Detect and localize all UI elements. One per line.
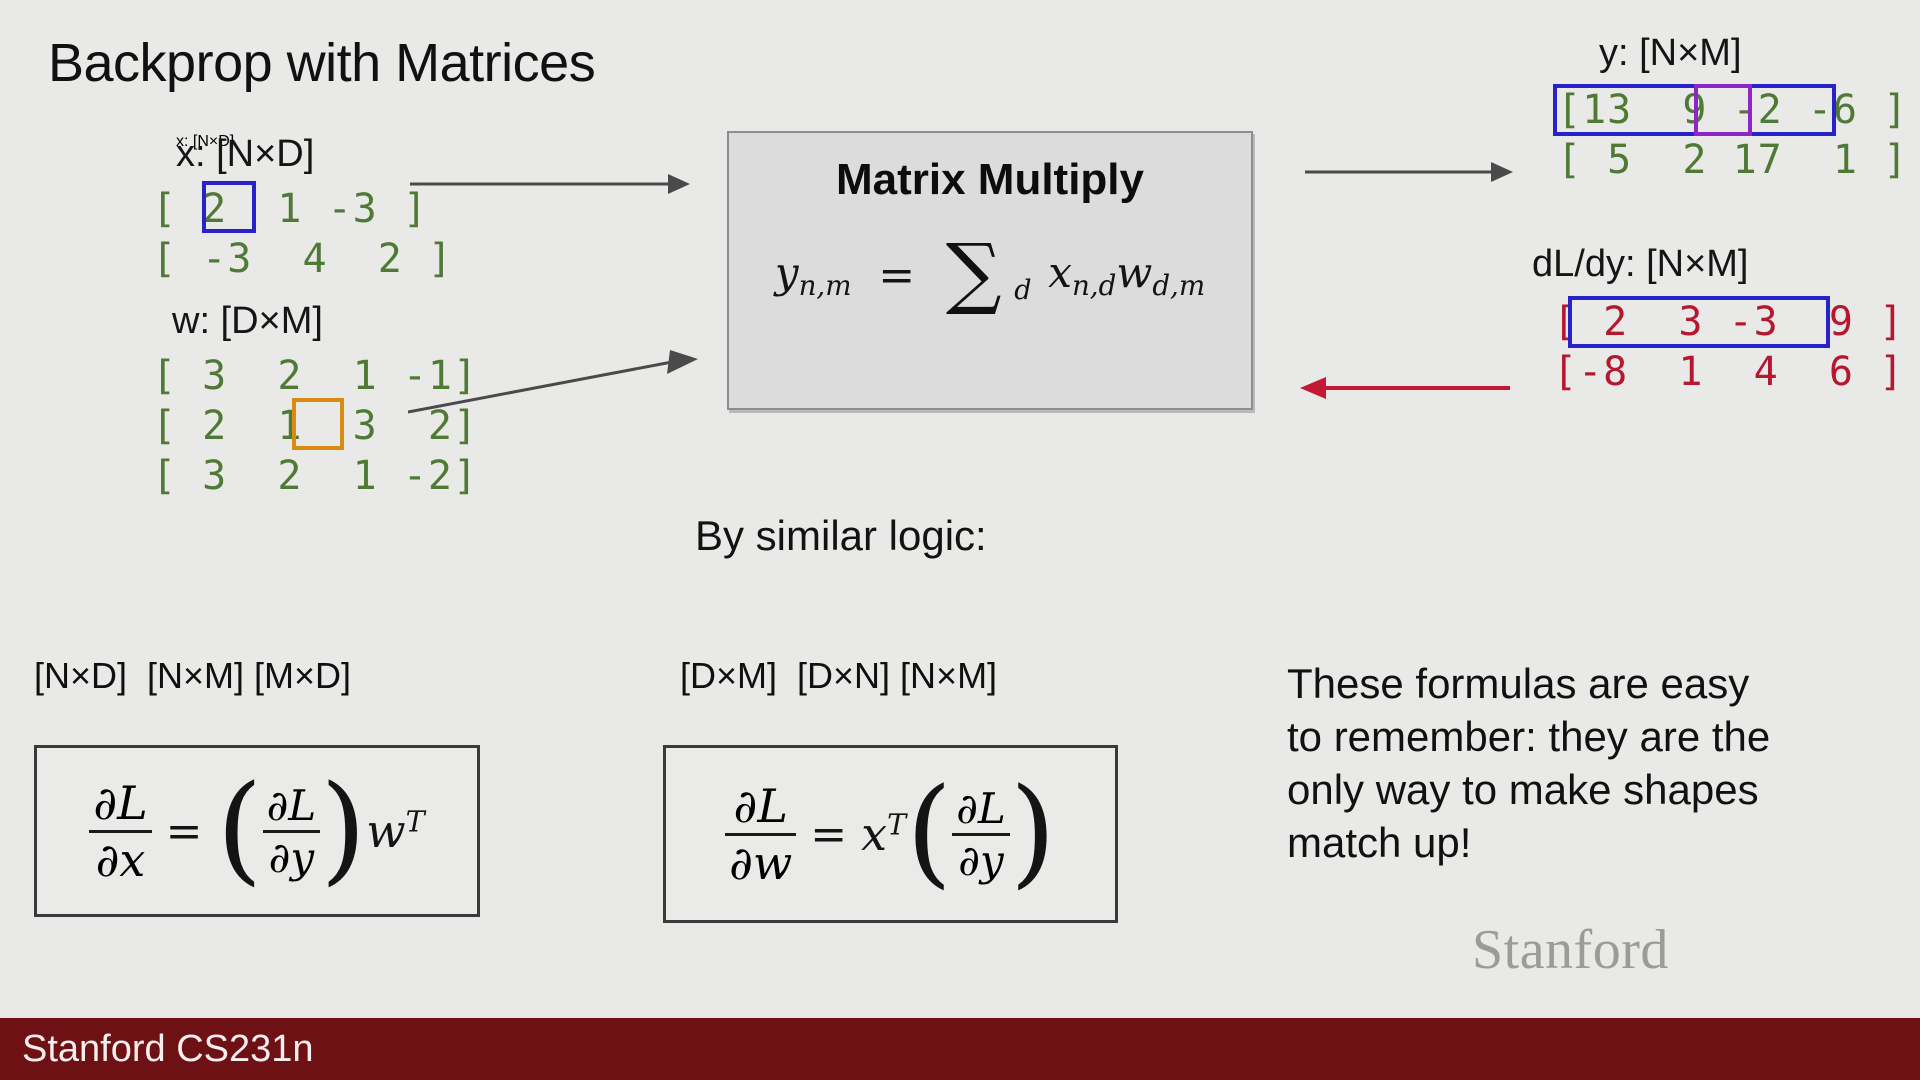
formula1-lhs-denominator: ∂x (89, 830, 151, 887)
formula1-equals: = (152, 806, 217, 857)
footer-bar: Stanford CS231n (0, 1018, 1920, 1080)
formula2-equals: = (796, 809, 861, 860)
footer-label: Stanford CS231n (22, 1028, 314, 1071)
formula2-lhs-denominator: ∂w (725, 833, 796, 890)
matrix-y-label: y: [N×M] (1599, 32, 1742, 75)
page-title: Backprop with Matrices (48, 32, 595, 94)
stanford-wordmark: Stanford (1472, 918, 1669, 982)
arrow-dLdy-to-op (1300, 375, 1510, 401)
formula-dL-dw-shapes: [D×M] [D×N] [N×M] (680, 655, 997, 697)
note-line-3: match up! (1287, 817, 1887, 870)
formula1-trailing-var-text: w (366, 804, 405, 858)
formula-dL-dw-body: ∂L ∂w = xT ( ∂L ∂y ) (666, 748, 1115, 920)
formula-dL-dx-body: ∂L ∂x = ( ∂L ∂y ) wT (37, 748, 477, 914)
by-similar-logic-text: By similar logic: (695, 512, 987, 560)
matrix-y-row-0: [13 9 -2 -6 ] (1557, 84, 1908, 136)
matrix-w-row-2: [ 3 2 1 -2] (152, 450, 478, 502)
formula-term1-sub: n,d (1072, 269, 1116, 302)
formula1-close-paren: ) (320, 792, 366, 865)
matrix-w-label: w: [D×M] (172, 300, 323, 343)
note-line-1: to remember: they are the (1287, 711, 1887, 764)
formula1-lhs-numerator: ∂L (89, 776, 151, 830)
formula-equals: = (864, 250, 929, 301)
formula1-rhs-denominator: ∂y (263, 830, 321, 882)
formula1-trailing-sup: T (406, 805, 425, 838)
formula1-trailing-var: wT (366, 804, 424, 858)
formula2-leading-var-text: x (861, 807, 887, 861)
formula1-rhs-numerator: ∂L (263, 781, 321, 830)
formula1-open-paren: ( (217, 792, 263, 865)
summation-symbol: ∑ d (946, 245, 1032, 309)
matrix-dLdy-row-1: [-8 1 4 6 ] (1553, 346, 1904, 398)
formula2-leading-var: xT (861, 807, 906, 861)
summation-index: d (1014, 275, 1031, 306)
formula2-close-paren: ) (1010, 795, 1056, 868)
formula-dL-dx-shapes: [N×D] [N×M] [M×D] (34, 655, 351, 697)
sigma-icon: ∑ (946, 228, 1002, 318)
matrix-dLdy-label: dL/dy: [N×M] (1532, 243, 1748, 286)
formula-dL-dx-card: ∂L ∂x = ( ∂L ∂y ) wT (34, 745, 480, 917)
matrix-x-row-0: [ 2 1 -3 ] (152, 183, 428, 235)
formula2-rhs-numerator: ∂L (952, 784, 1010, 833)
formula2-leading-sup: T (887, 808, 906, 841)
arrow-x-to-op (410, 172, 690, 196)
matrix-multiply-box: Matrix Multiply yn,m = ∑ d xn,dwd,m (727, 131, 1253, 410)
matrix-x-label-text: x: [N×D] (176, 133, 314, 176)
arrow-op-to-y (1305, 160, 1513, 184)
matrix-y-row-1: [ 5 2 17 1 ] (1557, 134, 1908, 186)
matrix-x-row-1: [ -3 4 2 ] (152, 233, 453, 285)
formula-term2-var: w (1116, 248, 1152, 297)
formula-term2-sub: d,m (1152, 269, 1205, 302)
note-block: These formulas are easy to remember: the… (1287, 658, 1887, 870)
matrix-multiply-title: Matrix Multiply (729, 155, 1251, 205)
note-line-2: only way to make shapes (1287, 764, 1887, 817)
formula2-lhs-numerator: ∂L (725, 779, 796, 833)
matrix-dLdy-row-0: [ 2 3 -3 9 ] (1553, 296, 1904, 348)
formula2-rhs-denominator: ∂y (952, 833, 1010, 885)
formula-dL-dw-card: ∂L ∂w = xT ( ∂L ∂y ) (663, 745, 1118, 923)
formula2-open-paren: ( (906, 795, 952, 868)
arrow-w-to-op (408, 350, 698, 420)
formula-term1-var: x (1048, 248, 1072, 297)
formula-lhs-var: y (775, 248, 799, 297)
matrix-multiply-formula: yn,m = ∑ d xn,dwd,m (729, 243, 1251, 307)
note-line-0: These formulas are easy (1287, 658, 1887, 711)
formula-lhs-sub: n,m (799, 269, 852, 302)
slide-canvas: Backprop with Matrices x: [N×D] x: [N×D]… (0, 0, 1920, 1080)
